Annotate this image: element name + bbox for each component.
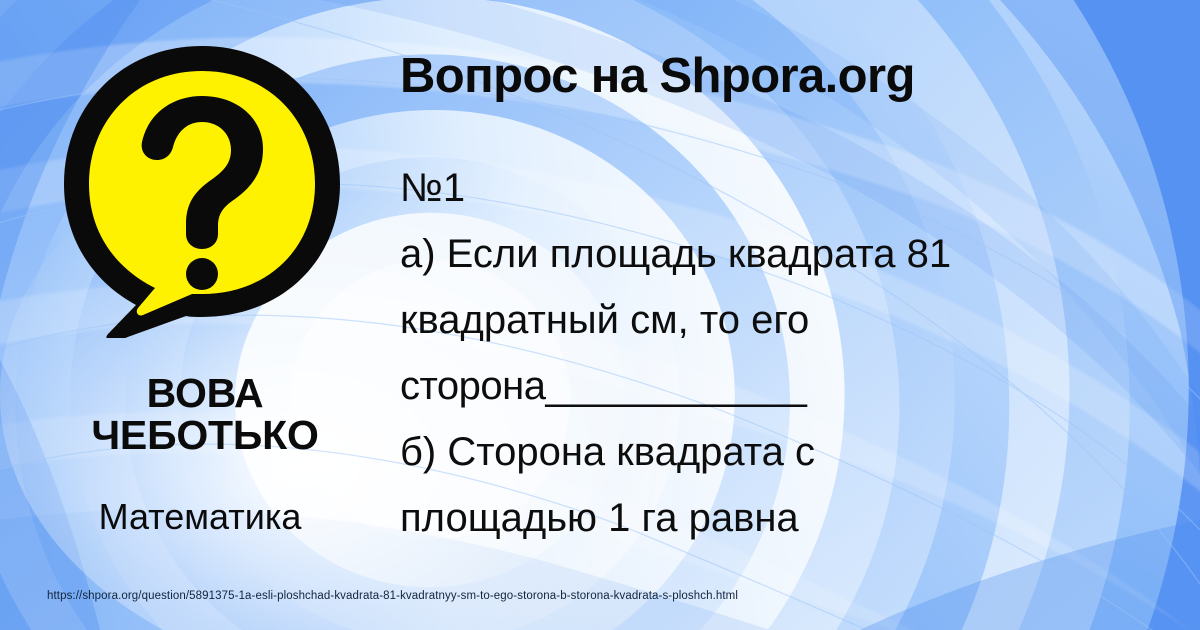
question-text: №1 а) Если площадь квадрата 81 квадратны… — [400, 155, 1190, 551]
question-line: б) Сторона квадрата с — [400, 419, 1190, 485]
source-url-link[interactable]: https://shpora.org/question/5891375-1a-e… — [47, 590, 738, 602]
question-line: площадью 1 га равна — [400, 485, 1190, 551]
question-speech-bubble-icon — [52, 38, 352, 338]
question-line-with-blank: сторона____________ — [400, 353, 1190, 419]
question-card: ВОВА ЧЕБОТЬКО Математика Вопрос на Shpor… — [0, 0, 1200, 630]
author-subject: Математика — [10, 497, 390, 537]
question-line: №1 — [400, 155, 1190, 221]
question-line: квадратный см, то его — [400, 287, 1190, 353]
author-name: ВОВА ЧЕБОТЬКО — [10, 372, 400, 456]
author-panel: ВОВА ЧЕБОТЬКО Математика — [0, 0, 392, 575]
card-content: ВОВА ЧЕБОТЬКО Математика Вопрос на Shpor… — [0, 0, 1200, 630]
page-title: Вопрос на Shpora.org — [400, 48, 915, 104]
question-panel: Вопрос на Shpora.org №1 а) Если площадь … — [396, 0, 1200, 575]
question-line: а) Если площадь квадрата 81 — [400, 221, 1190, 287]
